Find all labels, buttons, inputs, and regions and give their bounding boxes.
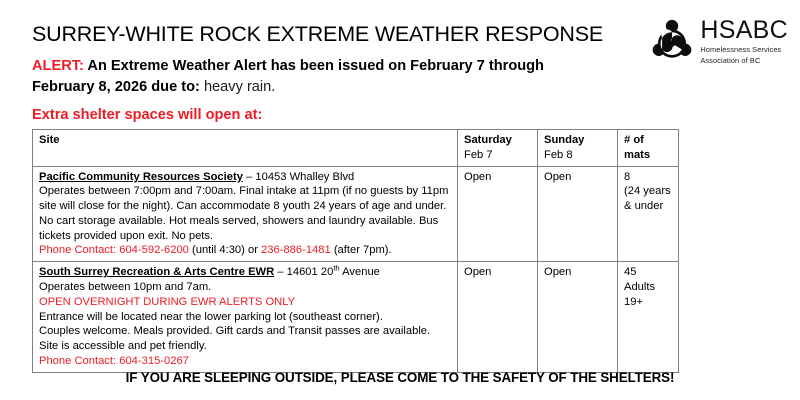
mats-label-line1: # of <box>624 134 644 146</box>
site-details: Operates between 7:00pm and 7:00am. Fina… <box>39 185 448 241</box>
logo-subtitle-line2: Association of BC <box>700 56 788 65</box>
table-row: South Surrey Recreation & Arts Centre EW… <box>33 262 679 372</box>
phone-contact-primary[interactable]: Phone Contact: 604-592-6200 <box>39 244 189 256</box>
mats-note-line2: & under <box>624 199 673 214</box>
mats-number: 8 <box>624 170 673 185</box>
mats-note-line2: 19+ <box>624 295 673 310</box>
shelter-info-pacific-community-resources-society: Pacific Community Resources Society – 10… <box>33 166 458 262</box>
weather-response-poster: SURREY-WHITE ROCK EXTREME WEATHER RESPON… <box>0 0 800 400</box>
mats-note-line1: Adults <box>624 280 673 295</box>
sunday-status: Open <box>538 262 618 372</box>
ewr-alerts-only-notice: OPEN OVERNIGHT DURING EWR ALERTS ONLY <box>39 296 295 308</box>
mats-count: 45 Adults 19+ <box>618 262 679 372</box>
alert-label: ALERT: <box>32 58 84 74</box>
saturday-status: Open <box>458 262 538 372</box>
sunday-label: Sunday <box>544 133 612 148</box>
triskelion-icon <box>650 19 694 63</box>
mats-label-line2: mats <box>624 149 650 161</box>
mats-number: 45 <box>624 265 673 280</box>
alert-reason: heavy rain. <box>200 79 275 95</box>
logo-subtitle-line1: Homelessness Services <box>700 45 788 54</box>
shelter-schedule-table: Site Saturday Feb 7 Sunday Feb 8 # of ma… <box>32 129 679 373</box>
phone-contact-primary[interactable]: Phone Contact: 604-315-0267 <box>39 355 189 367</box>
site-name: South Surrey Recreation & Arts Centre EW… <box>39 266 274 278</box>
site-address: – 10453 Whalley Blvd <box>243 171 354 183</box>
saturday-label: Saturday <box>464 133 532 148</box>
site-name: Pacific Community Resources Society <box>39 171 243 183</box>
site-address-pre: – 14601 20 <box>274 266 333 278</box>
hsabc-logo: HSABC Homelessness Services Association … <box>650 16 788 66</box>
sunday-date: Feb 8 <box>544 148 612 163</box>
header-block: SURREY-WHITE ROCK EXTREME WEATHER RESPON… <box>32 22 652 123</box>
saturday-date: Feb 7 <box>464 148 532 163</box>
shelter-info-south-surrey-recreation-arts-centre-ewr: South Surrey Recreation & Arts Centre EW… <box>33 262 458 372</box>
page-title: SURREY-WHITE ROCK EXTREME WEATHER RESPON… <box>32 22 652 46</box>
phone-contact-note-2: (after 7pm). <box>331 244 392 256</box>
site-entrance-info: Entrance will be located near the lower … <box>39 311 383 323</box>
table-header: Site Saturday Feb 7 Sunday Feb 8 # of ma… <box>33 130 679 167</box>
site-hours: Operates between 10pm and 7am. <box>39 281 211 293</box>
column-header-saturday: Saturday Feb 7 <box>458 130 538 167</box>
table-header-row: Site Saturday Feb 7 Sunday Feb 8 # of ma… <box>33 130 679 167</box>
alert-message: An Extreme Weather Alert has been issued… <box>32 58 544 95</box>
column-header-mats: # of mats <box>618 130 679 167</box>
phone-contact-secondary[interactable]: 236-886-1481 <box>261 244 331 256</box>
sunday-status: Open <box>538 166 618 262</box>
alert-statement: ALERT: An Extreme Weather Alert has been… <box>32 56 592 97</box>
saturday-status: Open <box>458 166 538 262</box>
phone-contact-note-1: (until 4:30) or <box>189 244 261 256</box>
site-address-post: Avenue <box>340 266 380 278</box>
footer-safety-message: IF YOU ARE SLEEPING OUTSIDE, PLEASE COME… <box>0 370 800 385</box>
mats-note-line1: (24 years <box>624 184 673 199</box>
logo-text-block: HSABC Homelessness Services Association … <box>700 16 788 66</box>
site-amenities-info: Couples welcome. Meals provided. Gift ca… <box>39 325 430 352</box>
column-header-site: Site <box>33 130 458 167</box>
mats-count: 8 (24 years & under <box>618 166 679 262</box>
extra-spaces-heading: Extra shelter spaces will open at: <box>32 107 652 123</box>
table-row: Pacific Community Resources Society – 10… <box>33 166 679 262</box>
logo-acronym: HSABC <box>700 18 788 43</box>
column-header-sunday: Sunday Feb 8 <box>538 130 618 167</box>
